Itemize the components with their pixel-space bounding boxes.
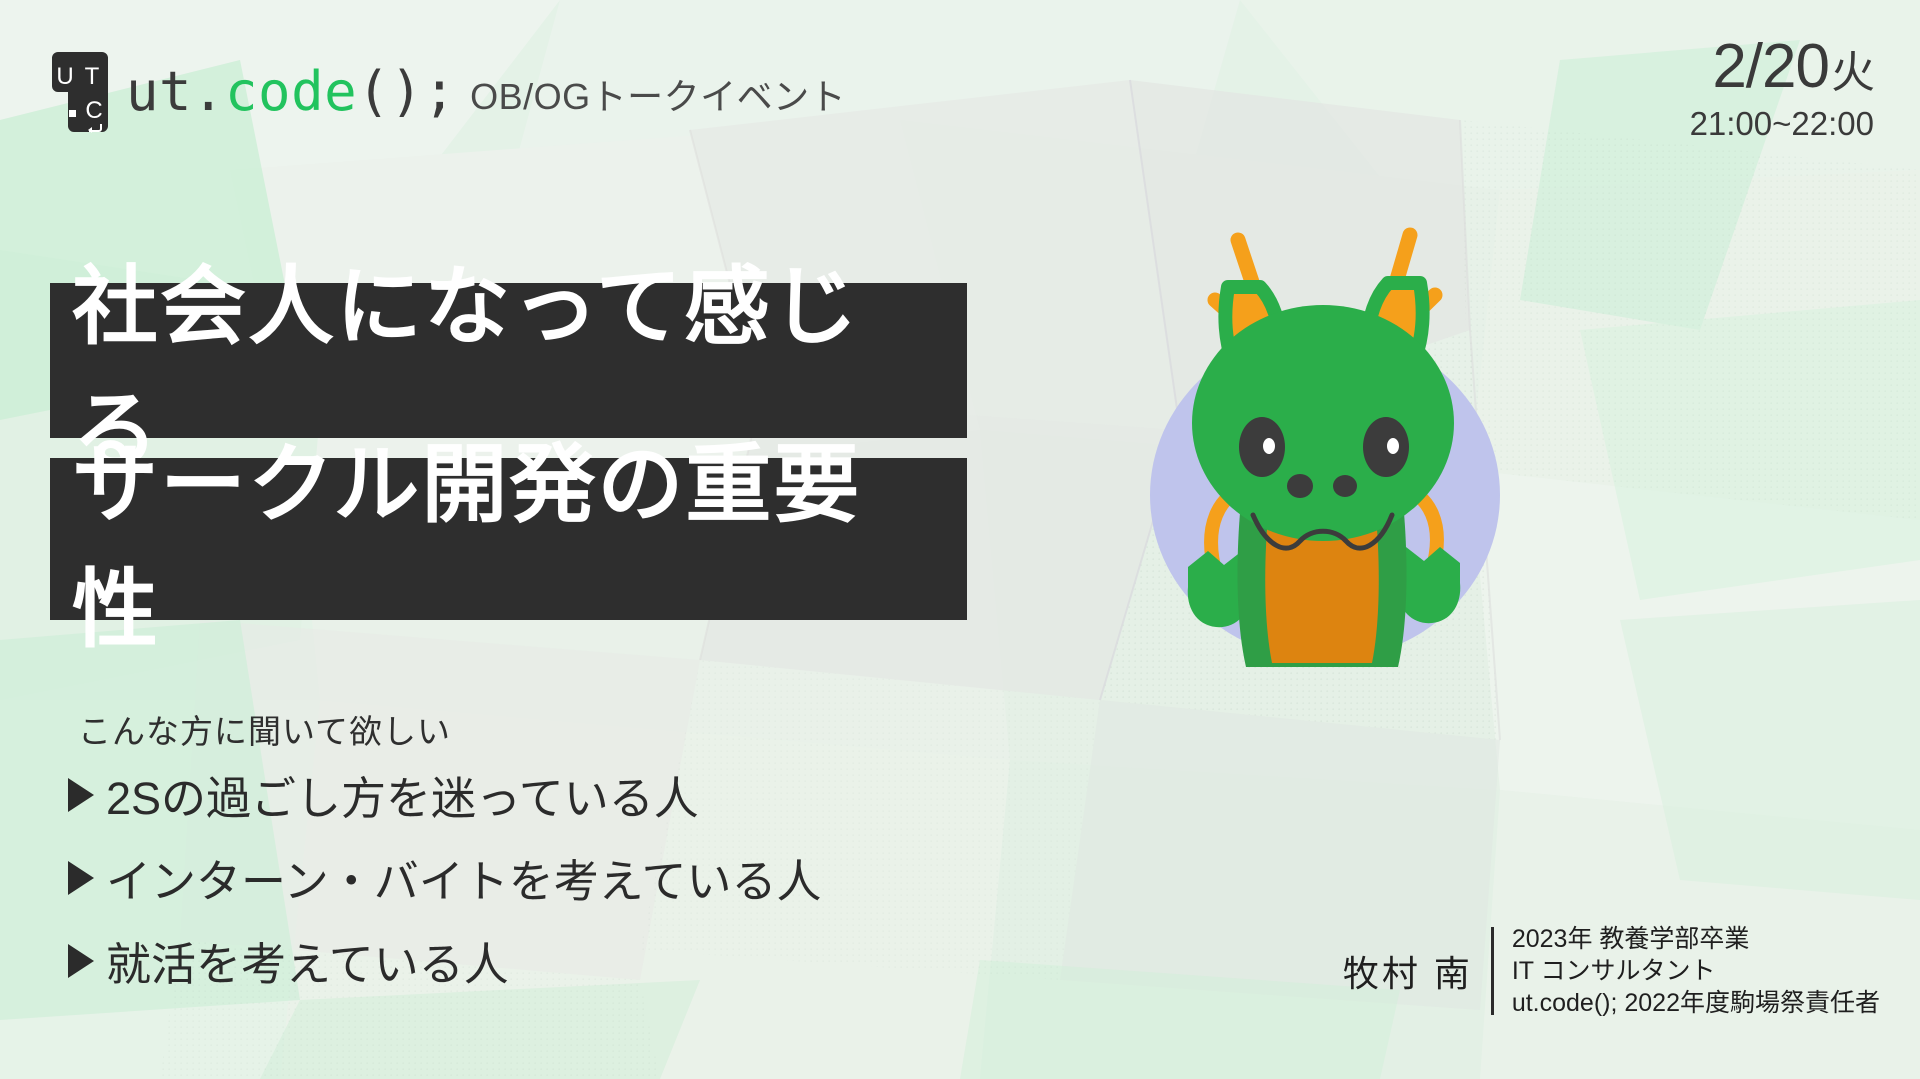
list-item: インターン・バイトを考えている人 — [68, 845, 822, 910]
poster-canvas: U T C ut.code(); OB/OGトークイベント 2/20火 21:0… — [0, 0, 1920, 1079]
brand-wordmark: ut.code(); OB/OGトークイベント — [126, 65, 846, 119]
poster-header: U T C ut.code(); OB/OGトークイベント 2/20火 21:0… — [0, 0, 1920, 170]
brand-prefix: ut. — [126, 65, 225, 119]
speaker-divider — [1491, 927, 1494, 1015]
speaker-block: 牧村 南 2023年 教養学部卒業 IT コンサルタント ut.code(); … — [1343, 923, 1880, 1019]
speaker-name: 牧村 南 — [1343, 945, 1491, 997]
audience-list: 2Sの過ごし方を迷っている人 インターン・バイトを考えている人 就活を考えている… — [68, 762, 822, 1011]
svg-text:C: C — [85, 97, 102, 124]
speaker-credential-line: IT コンサルタント — [1512, 955, 1880, 987]
ut-code-logo-mark: U T C — [48, 48, 110, 136]
triangle-bullet-icon — [68, 861, 94, 895]
mascot-head — [1192, 305, 1454, 541]
triangle-bullet-icon — [68, 778, 94, 812]
brand-accent: code — [225, 65, 357, 119]
svg-text:U: U — [56, 63, 73, 90]
list-item: 就活を考えている人 — [68, 928, 822, 993]
speaker-credentials: 2023年 教養学部卒業 IT コンサルタント ut.code(); 2022年… — [1512, 923, 1880, 1019]
event-date-block: 2/20火 21:00~22:00 — [1690, 36, 1874, 142]
event-date-weekday: 火 — [1831, 48, 1874, 97]
svg-text:T: T — [85, 63, 100, 90]
event-date: 2/20火 — [1690, 36, 1874, 98]
list-item: 2Sの過ごし方を迷っている人 — [68, 762, 822, 827]
brand-suffix: (); — [357, 65, 456, 119]
brand-subtitle: OB/OGトークイベント — [470, 79, 846, 119]
triangle-bullet-icon — [68, 944, 94, 978]
list-item-label: 就活を考えている人 — [106, 928, 509, 993]
title-band-line2: サークル開発の重要性 — [50, 458, 967, 620]
brand-lockup: U T C ut.code(); OB/OGトークイベント — [48, 48, 846, 136]
event-time-range: 21:00~22:00 — [1690, 106, 1874, 142]
dragon-mascot-icon — [1110, 195, 1530, 715]
audience-lead: こんな方に聞いて欲しい — [78, 705, 451, 753]
speaker-credential-line: 2023年 教養学部卒業 — [1512, 923, 1880, 955]
list-item-label: インターン・バイトを考えている人 — [106, 845, 822, 910]
speaker-credential-line: ut.code(); 2022年度駒場祭責任者 — [1512, 987, 1880, 1019]
event-date-day: 2/20 — [1712, 32, 1829, 101]
list-item-label: 2Sの過ごし方を迷っている人 — [106, 762, 699, 827]
